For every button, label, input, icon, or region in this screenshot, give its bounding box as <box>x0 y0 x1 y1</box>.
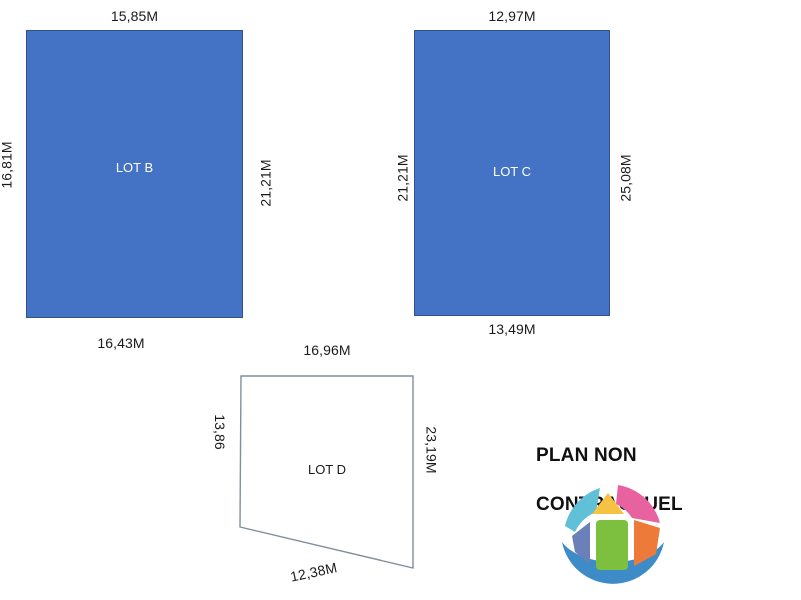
lot-c-bottom-dimension: 13,49M <box>414 321 610 337</box>
lot-b-left-dimension: 16,81M <box>0 150 42 180</box>
lot-b-label: LOT B <box>26 160 243 175</box>
lot-d-right-dimension: 23,19M <box>400 435 464 465</box>
lot-c-label: LOT C <box>414 164 610 179</box>
lot-d-left-dimension: 13,86 <box>188 417 252 447</box>
logo-pink-segment <box>616 485 660 523</box>
lot-d-left-dimension-text: 13,86 <box>212 414 228 450</box>
lot-d-label: LOT D <box>241 462 413 477</box>
lot-b-right-dimension-text: 21,21M <box>258 159 274 206</box>
logo-green-body <box>596 520 628 570</box>
lot-c-left-dimension-text: 21,21M <box>395 154 411 201</box>
lot-c-top-dimension: 12,97M <box>414 8 610 24</box>
lot-d-bottom-dimension: 12,38M <box>262 558 366 586</box>
lot-d-right-dimension-text: 23,19M <box>424 426 440 473</box>
lot-d-bottom-dimension-text: 12,38M <box>289 559 339 584</box>
lot-b-right-dimension: 21,21M <box>231 168 301 198</box>
lot-b-top-dimension: 15,85M <box>26 8 243 24</box>
site-plan-canvas: 15,85M LOT B 16,81M 21,21M 16,43M 12,97M… <box>0 0 801 600</box>
logo-lightblue-segment <box>565 488 600 532</box>
lot-c-left-dimension: 21,21M <box>368 163 438 193</box>
colored-globe-house-logo <box>556 478 670 592</box>
lot-b-bottom-dimension: 16,43M <box>26 335 216 351</box>
lot-c-right-dimension: 25,08M <box>591 163 661 193</box>
lot-c-right-dimension-text: 25,08M <box>618 154 634 201</box>
lot-d-top-dimension: 16,96M <box>241 342 413 358</box>
lot-b-left-dimension-text: 16,81M <box>0 141 15 188</box>
plan-notice-line-1: PLAN NON <box>536 444 683 468</box>
